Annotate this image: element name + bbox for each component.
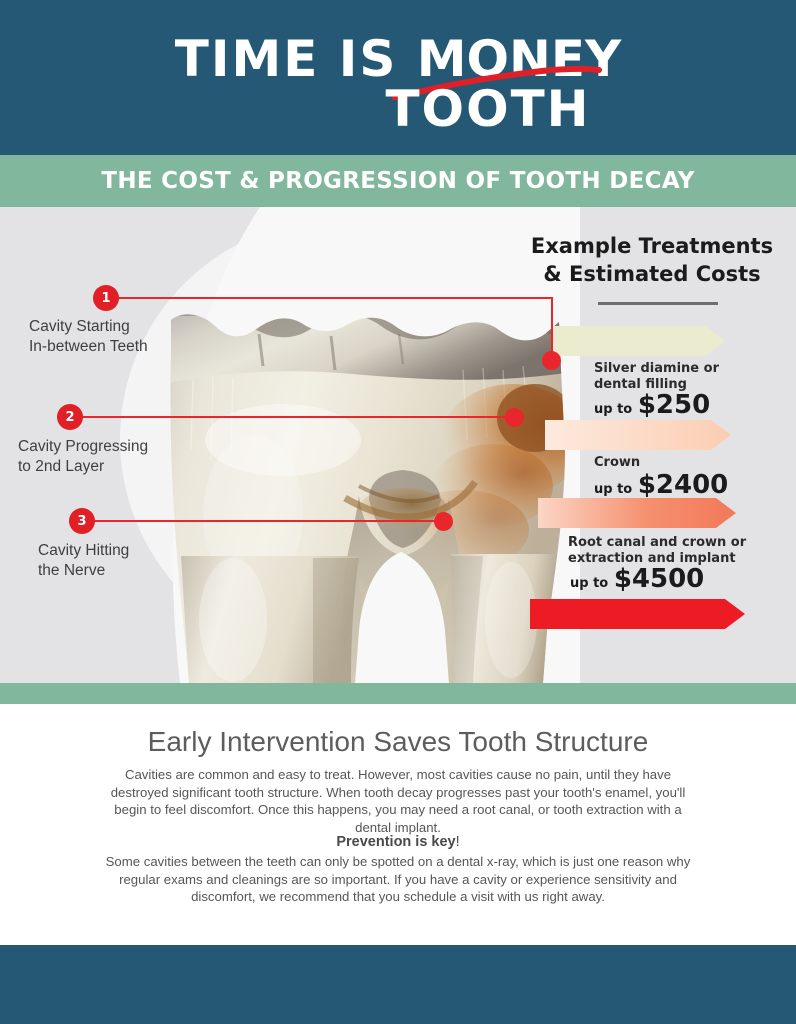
callout-label-2-line1: Cavity Progressing [18, 437, 148, 457]
leader-dot-3 [434, 512, 453, 531]
treatments-title-line1: Example Treatments [508, 232, 796, 260]
callout-label-3: Cavity Hitting the Nerve [38, 541, 129, 581]
price-amount-1: $250 [638, 390, 710, 420]
green-divider-band [0, 683, 796, 704]
subtitle-text: THE COST & PROGRESSION OF TOOTH DECAY [101, 168, 694, 194]
callout-number-3-text: 3 [77, 514, 86, 529]
arrow-band-shape-3 [538, 498, 736, 528]
headline-tooth: TOOTH [385, 80, 590, 138]
severity-band-pain [538, 498, 736, 528]
treatment-desc-sensitivity: Crown [594, 455, 640, 471]
header-banner: TIME IS MONEY TOOTH [0, 0, 796, 155]
callout-number-3: 3 [69, 508, 95, 534]
arrow-band-shape-4 [530, 599, 745, 629]
severity-band-severe-pain [530, 599, 745, 629]
treatments-panel-title: Example Treatments & Estimated Costs [508, 232, 796, 288]
callout-number-2-text: 2 [65, 410, 74, 425]
treatment-2-line1: Crown [594, 455, 640, 471]
treatment-desc-no-pain: Silver diamine or dental filling [594, 361, 719, 393]
callout-label-2-line2: to 2nd Layer [18, 457, 148, 477]
prevention-key-line: Prevention is key! [0, 834, 796, 850]
price-amount-2: $2400 [638, 470, 728, 500]
treatments-title-divider [598, 302, 718, 305]
callout-label-3-line2: the Nerve [38, 561, 129, 581]
prevention-key-bold: Prevention is key [336, 834, 455, 850]
leader-dot-1 [542, 351, 561, 370]
severity-band-sensitivity [545, 420, 731, 450]
price-prefix-2: up to [594, 482, 632, 497]
bottom-text-section: Early Intervention Saves Tooth Structure… [0, 704, 796, 945]
treatment-3-line1: Root canal and crown or [568, 535, 746, 551]
callout-number-1: 1 [93, 285, 119, 311]
leader-line-1-horizontal [118, 297, 553, 299]
callout-number-1-text: 1 [101, 291, 110, 306]
leader-line-2-horizontal [82, 416, 517, 418]
treatment-1-line1: Silver diamine or [594, 361, 719, 377]
callout-label-2: Cavity Progressing to 2nd Layer [18, 437, 148, 477]
infographic-page: TIME IS MONEY TOOTH THE COST & PROGRESSI… [0, 0, 796, 1024]
treatments-title-line2: & Estimated Costs [508, 260, 796, 288]
footer-band [0, 945, 796, 1024]
molar-tooth-image [163, 300, 573, 683]
bottom-paragraph-2: Some cavities between the teeth can only… [98, 853, 698, 906]
leader-line-3-horizontal [94, 520, 444, 522]
bottom-heading: Early Intervention Saves Tooth Structure [0, 726, 796, 758]
price-prefix-1: up to [594, 402, 632, 417]
arrow-band-shape-1 [553, 326, 725, 356]
treatment-desc-pain: Root canal and crown or extraction and i… [568, 535, 746, 567]
prevention-key-suffix: ! [456, 834, 460, 850]
price-amount-3: $4500 [614, 564, 704, 594]
price-pain: up to $4500 [570, 564, 704, 594]
callout-label-1-line1: Cavity Starting [29, 317, 148, 337]
price-no-pain: up to $250 [594, 390, 710, 420]
price-prefix-3: up to [570, 576, 608, 591]
arrow-band-shape-2 [545, 420, 731, 450]
leader-dot-2 [505, 408, 524, 427]
main-diagram-panel: 1 2 3 Cavity Starting In-between Teeth C… [0, 207, 796, 683]
subtitle-band: THE COST & PROGRESSION OF TOOTH DECAY [0, 155, 796, 207]
headline-line-2: TOOTH [0, 80, 796, 138]
bottom-paragraph-1: Cavities are common and easy to treat. H… [98, 766, 698, 836]
callout-number-2: 2 [57, 404, 83, 430]
callout-label-1-line2: In-between Teeth [29, 337, 148, 357]
callout-label-3-line1: Cavity Hitting [38, 541, 129, 561]
callout-label-1: Cavity Starting In-between Teeth [29, 317, 148, 357]
severity-band-no-pain [553, 326, 725, 356]
price-sensitivity: up to $2400 [594, 470, 728, 500]
